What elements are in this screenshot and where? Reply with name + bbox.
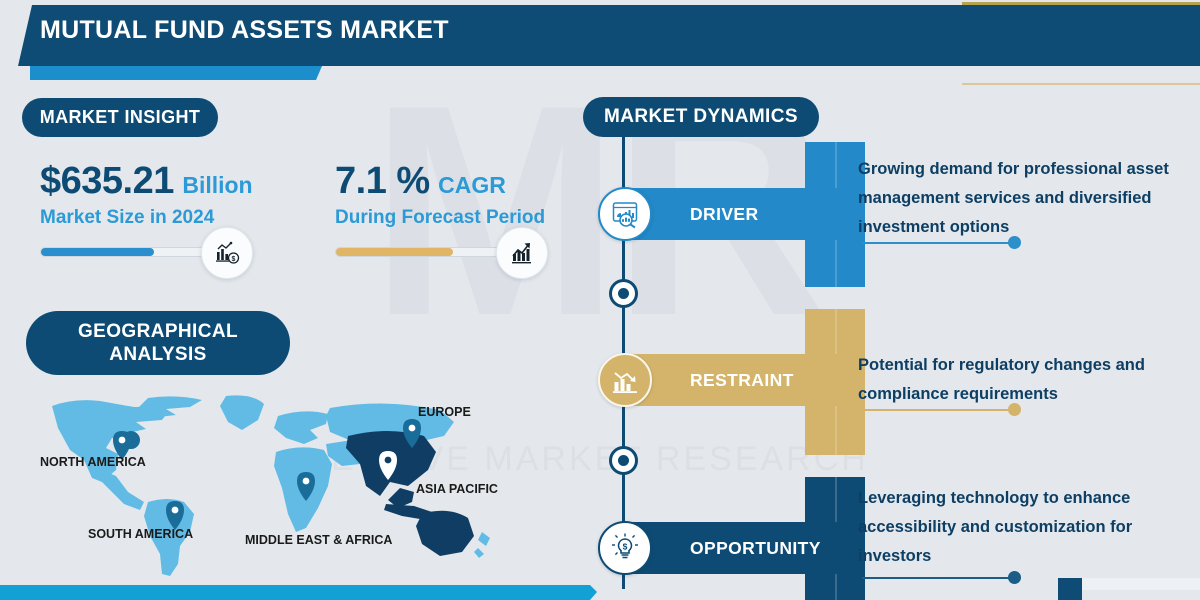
kpi-headline: $635.21 Billion [40,160,253,203]
map-region-nz-south [474,548,484,558]
header-accent-bar [30,66,322,80]
kpi-unit: CAGR [438,172,506,198]
driver-description: Growing demand for professional asset ma… [858,155,1188,242]
footer-white-block [1082,578,1200,590]
restraint-underline [862,409,1014,411]
opportunity-underline [862,577,1014,579]
geographical-analysis-pill: GEOGRAPHICAL ANALYSIS [26,311,290,375]
declining-bar-chart-icon [598,353,652,407]
timeline-node [609,446,638,475]
footer-accent-bar [0,585,597,600]
map-region-mexico [98,470,144,510]
kpi-value: $635.21 [40,160,174,202]
opportunity-description: Leveraging technology to enhance accessi… [858,484,1188,571]
kpi-value: 7.1 % [335,160,430,202]
restraint-end-dot [1008,403,1021,416]
kpi-caption: During Forecast Period [335,207,545,229]
world-map: NORTH AMERICA SOUTH AMERICA EUROPE ASIA … [30,392,550,577]
map-region-new-zealand [478,532,490,546]
bar-chart-dollar-icon: $ [201,227,253,279]
kpi-progress-track [335,247,525,257]
geo-label-line2: ANALYSIS [109,343,207,366]
market-insight-pill: MARKET INSIGHT [22,98,218,137]
map-label-europe: EUROPE [418,405,471,419]
map-region-australia-highlight [416,511,474,556]
footer-navy-tab [1058,578,1082,600]
map-label-asia-pacific: ASIA PACIFIC [416,482,498,496]
header-gold-bottom-rule [962,83,1200,85]
map-region-na-arctic [136,396,202,418]
map-label-south-america: SOUTH AMERICA [88,527,193,541]
restraint-description: Potential for regulatory changes and com… [858,351,1188,409]
kpi-market-size: $635.21 Billion Market Size in 2024 $ [40,160,253,257]
opportunity-end-dot [1008,571,1021,584]
map-region-europe [274,411,328,444]
driver-label: DRIVER [690,204,759,225]
driver-end-dot [1008,236,1021,249]
page-title: MUTUAL FUND ASSETS MARKET [40,16,449,45]
lightbulb-dollar-icon: $ [598,521,652,575]
opportunity-bar: OPPORTUNITY [624,522,842,574]
market-dynamics-pill: MARKET DYNAMICS [583,97,819,137]
geo-label-line1: GEOGRAPHICAL [78,320,238,343]
kpi-caption: Market Size in 2024 [40,207,253,229]
market-dynamics-label: MARKET DYNAMICS [604,106,798,128]
restraint-bar: RESTRAINT [624,354,842,406]
market-insight-label: MARKET INSIGHT [40,107,201,128]
svg-text:$: $ [232,256,236,263]
svg-text:$: $ [623,542,628,552]
map-label-north-america: NORTH AMERICA [40,455,146,469]
driver-bar: DRIVER [624,188,842,240]
restraint-label: RESTRAINT [690,370,794,391]
kpi-headline: 7.1 % CAGR [335,160,545,203]
map-region-greenland [220,395,264,430]
growth-chart-arrow-icon [496,227,548,279]
kpi-unit: Billion [182,172,252,198]
kpi-progress-track: $ [40,247,230,257]
driver-underline [862,242,1014,244]
kpi-progress-fill [336,248,453,256]
kpi-cagr: 7.1 % CAGR During Forecast Period [335,160,545,257]
header-gold-top-rule [962,2,1200,5]
chart-magnifier-icon [598,187,652,241]
timeline-node [609,279,638,308]
kpi-progress-fill [41,248,154,256]
opportunity-label: OPPORTUNITY [690,538,821,559]
map-label-middle-east-africa: MIDDLE EAST & AFRICA [245,533,392,547]
